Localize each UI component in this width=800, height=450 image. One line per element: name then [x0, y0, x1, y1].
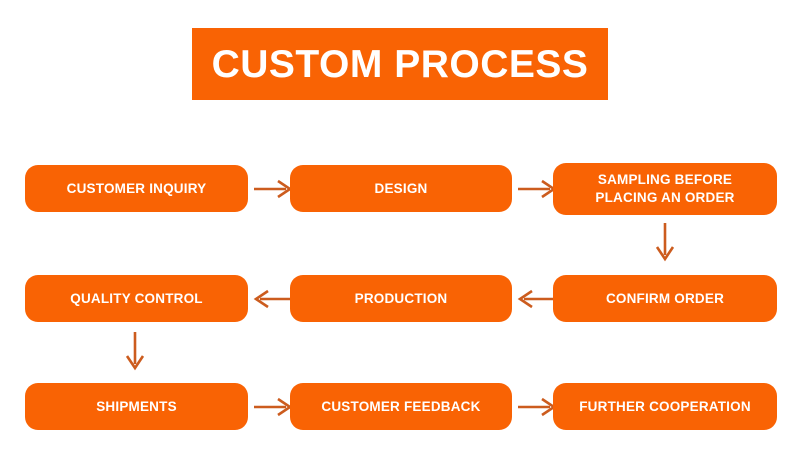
process-step-label: CONFIRM ORDER — [606, 290, 724, 307]
arrow-right-icon — [516, 178, 558, 200]
process-step-sampling-before-placing-an-order[interactable]: SAMPLING BEFORE PLACING AN ORDER — [553, 163, 777, 215]
arrow-left-icon — [516, 288, 558, 310]
process-step-production[interactable]: PRODUCTION — [290, 275, 512, 322]
process-step-label-line2: PLACING AN ORDER — [595, 190, 734, 205]
process-step-customer-inquiry[interactable]: CUSTOMER INQUIRY — [25, 165, 248, 212]
arrow-right-icon — [516, 396, 558, 418]
arrow-right-icon — [252, 178, 294, 200]
arrow-right-icon — [252, 396, 294, 418]
process-step-confirm-order[interactable]: CONFIRM ORDER — [553, 275, 777, 322]
process-step-label: DESIGN — [375, 180, 428, 197]
arrow-down-icon — [124, 330, 146, 372]
process-step-customer-feedback[interactable]: CUSTOMER FEEDBACK — [290, 383, 512, 430]
process-step-label: SAMPLING BEFORE PLACING AN ORDER — [595, 171, 734, 206]
process-step-label: FURTHER COOPERATION — [579, 398, 751, 415]
process-step-design[interactable]: DESIGN — [290, 165, 512, 212]
process-step-shipments[interactable]: SHIPMENTS — [25, 383, 248, 430]
page-title-banner: CUSTOM PROCESS — [192, 28, 608, 100]
process-step-quality-control[interactable]: QUALITY CONTROL — [25, 275, 248, 322]
process-step-further-cooperation[interactable]: FURTHER COOPERATION — [553, 383, 777, 430]
process-step-label: SHIPMENTS — [96, 398, 177, 415]
process-step-label: QUALITY CONTROL — [70, 290, 203, 307]
process-diagram: CUSTOM PROCESS CUSTOMER INQUIRY DESIGN S… — [0, 0, 800, 450]
process-step-label: PRODUCTION — [355, 290, 448, 307]
process-step-label: CUSTOMER INQUIRY — [67, 180, 207, 197]
arrow-left-icon — [252, 288, 294, 310]
arrow-down-icon — [654, 221, 676, 263]
page-title: CUSTOM PROCESS — [212, 45, 589, 84]
process-step-label: CUSTOMER FEEDBACK — [321, 398, 480, 415]
process-step-label-line1: SAMPLING BEFORE — [598, 172, 732, 187]
